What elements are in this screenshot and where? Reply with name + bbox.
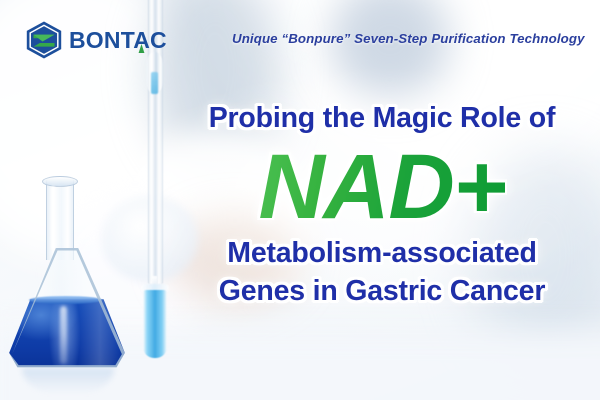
- headline-highlight-row: NAD+: [170, 138, 594, 236]
- flask-liquid-surface: [29, 296, 102, 304]
- pipette-liquid: [151, 72, 158, 94]
- brand-tagline: Unique “Bonpure” Seven-Step Purification…: [232, 31, 585, 46]
- leaf-accent-icon: [138, 44, 145, 53]
- erlenmeyer-flask-icon: [8, 178, 138, 373]
- headline-line-4: Genes in Gastric Cancer: [170, 276, 594, 307]
- flask-neck-highlight: [51, 186, 55, 250]
- brand-logo[interactable]: BONTAC: [26, 21, 167, 59]
- brand-name-text: BONTAC: [69, 27, 167, 53]
- headline-block: Probing the Magic Role of NAD+ Metabolis…: [170, 104, 594, 308]
- brand-wordmark: BONTAC: [69, 29, 167, 52]
- flask-glass-highlight: [60, 306, 67, 364]
- bontac-hexagon-logo-icon: [26, 21, 62, 59]
- headline-line-1: Probing the Magic Role of: [170, 104, 594, 134]
- test-tube-icon: [143, 290, 167, 358]
- headline-highlight-nad: NAD+: [254, 141, 509, 233]
- flask-lip: [42, 176, 78, 187]
- headline-line-3: Metabolism-associated: [170, 238, 594, 269]
- promo-banner: BONTAC Unique “Bonpure” Seven-Step Purif…: [0, 0, 600, 400]
